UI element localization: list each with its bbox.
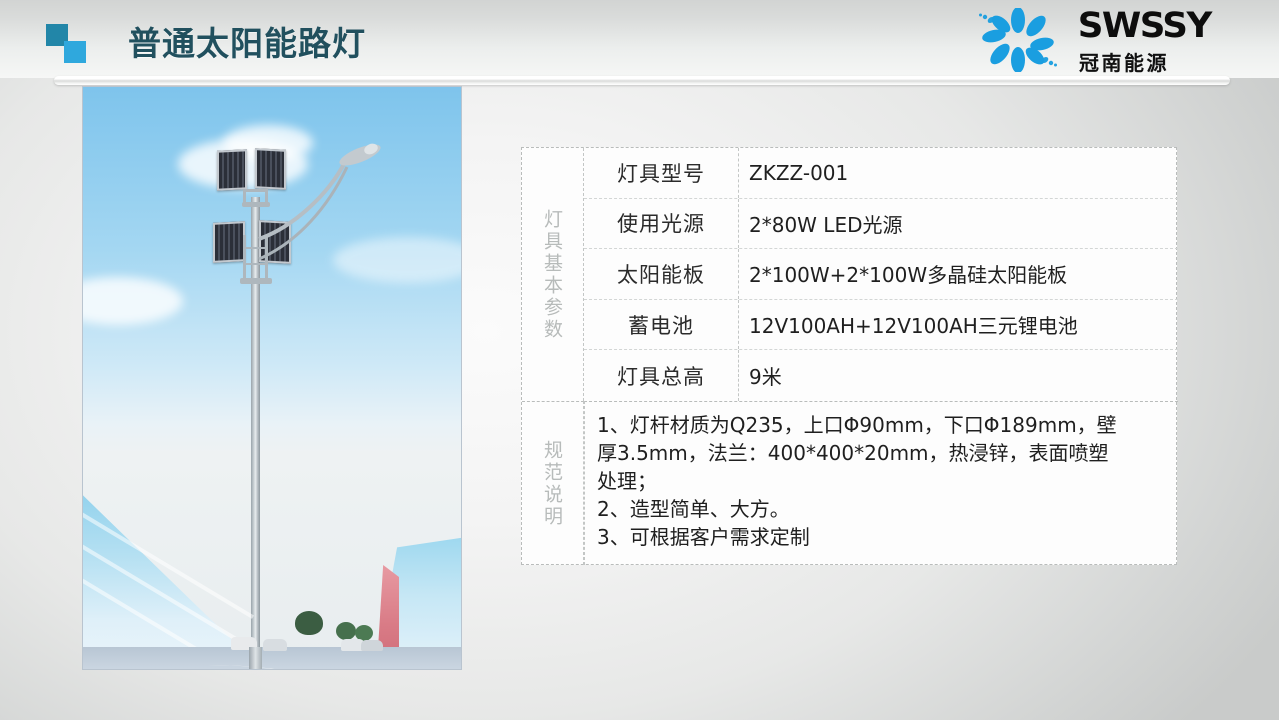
- table-row: 灯具总高 9米: [584, 350, 1178, 401]
- square-light-icon: [64, 41, 86, 63]
- row-label: 使用光源: [584, 199, 739, 249]
- row-label: 蓄电池: [584, 300, 739, 350]
- table-row: 使用光源 2*80W LED光源: [584, 199, 1178, 250]
- row-label: 灯具总高: [584, 350, 739, 401]
- table-row: 太阳能板 2*100W+2*100W多晶硅太阳能板: [584, 249, 1178, 300]
- logo-text-block: SWSSY 冠南能源: [1079, 8, 1210, 76]
- pole-base: [249, 647, 262, 670]
- car: [263, 639, 287, 651]
- row-label: 太阳能板: [584, 249, 739, 299]
- basic-params-rows: 灯具型号 ZKZZ-001 使用光源 2*80W LED光源 太阳能板 2*10…: [584, 148, 1178, 401]
- spec-line: 处理；: [597, 467, 1170, 495]
- group-label-basic-params: 灯具基本参数: [522, 148, 584, 401]
- logo-subtitle: 冠南能源: [1079, 47, 1210, 76]
- specification-table: 灯具基本参数 灯具型号 ZKZZ-001 使用光源 2*80W LED光源 太阳…: [521, 147, 1177, 565]
- table-row: 灯具型号 ZKZZ-001: [584, 148, 1178, 199]
- logo-wordmark: SWSSY: [1078, 8, 1211, 44]
- spec-line: 2、造型简单、大方。: [597, 495, 1170, 523]
- water-droplet-sunburst-icon: [967, 8, 1069, 72]
- product-photo: [82, 86, 462, 670]
- spec-line: 1、灯杆材质为Q235，上口Φ90mm，下口Φ189mm，壁: [597, 411, 1170, 439]
- row-value: ZKZZ-001: [739, 148, 1178, 198]
- row-value: 12V100AH+12V100AH三元锂电池: [739, 300, 1178, 350]
- table-row: 蓄电池 12V100AH+12V100AH三元锂电池: [584, 300, 1178, 351]
- company-logo: SWSSY 冠南能源: [967, 6, 1217, 74]
- tree: [295, 611, 323, 635]
- car: [361, 640, 383, 651]
- logo-svg: [967, 8, 1069, 72]
- spec-line: 厚3.5mm，法兰：400*400*20mm，热浸锌，表面喷塑: [597, 439, 1170, 467]
- tree: [336, 622, 356, 640]
- slide-header: 普通太阳能路灯: [0, 0, 1279, 78]
- decorative-squares: [46, 24, 92, 62]
- page-title: 普通太阳能路灯: [128, 17, 366, 65]
- title-divider: [54, 76, 1230, 85]
- spec-line: 3、可根据客户需求定制: [597, 523, 1170, 551]
- row-value: 2*100W+2*100W多晶硅太阳能板: [739, 249, 1178, 299]
- spec-notes-body: 1、灯杆材质为Q235，上口Φ90mm，下口Φ189mm，壁 厚3.5mm，法兰…: [584, 401, 1178, 565]
- row-value: 9米: [739, 350, 1178, 401]
- group-label-spec-notes: 规范说明: [522, 401, 584, 565]
- row-value: 2*80W LED光源: [739, 199, 1178, 249]
- row-label: 灯具型号: [584, 148, 739, 198]
